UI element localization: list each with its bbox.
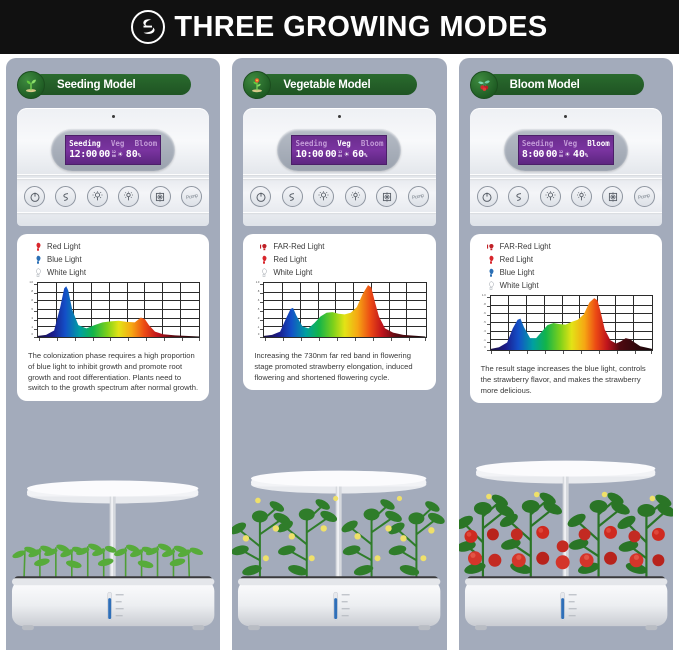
- legend-item: Blue Light: [487, 268, 653, 278]
- chart-y-axis: 1.0 .8 .6 .5 .3 .1 0: [26, 282, 37, 338]
- mode-badge-pill: Seeding Model: [31, 74, 191, 95]
- mode-badge-label: Bloom Model: [510, 79, 580, 91]
- lcd-seconds-value: 00: [546, 150, 557, 160]
- mode-badge-label: Seeding Model: [57, 79, 136, 91]
- spectrum-curve: [38, 283, 199, 337]
- spectrum-legend: FAR-Red Light Red Light White Light: [260, 242, 426, 278]
- pump-button-label: Pump: [412, 192, 425, 200]
- indicator-dot-icon: [112, 115, 115, 118]
- pump-icon[interactable]: Pump: [408, 186, 429, 207]
- spectrum-curve: [264, 283, 425, 337]
- legend-item: White Light: [34, 268, 200, 278]
- lcd-mode-bloom: Bloom: [587, 140, 610, 148]
- spectrum-mode-icon[interactable]: [602, 186, 623, 207]
- legend-item: FAR-Red Light: [487, 242, 653, 252]
- legend-item: Red Light: [260, 255, 426, 265]
- spectrum-card-seeding: Red Light Blue Light White Light 1.0 .8 …: [17, 234, 209, 401]
- lcd-timer-value: 10:00: [295, 150, 323, 160]
- mode-description: The colonization phase requires a high p…: [28, 351, 198, 394]
- controller-device-bloom: Seeding Veg Bloom 8:00 00 12 00 ☀ 40%: [470, 108, 662, 226]
- legend-label: White Light: [500, 282, 539, 290]
- bulb-icon: [34, 255, 42, 265]
- lcd-display[interactable]: Seeding Veg Bloom 12:00 00 12 00 ☀ 80%: [65, 135, 161, 165]
- legend-item: Red Light: [487, 255, 653, 265]
- power-icon[interactable]: [24, 186, 45, 207]
- lcd-mini-labels: 12 00: [559, 151, 563, 159]
- lcd-mini-labels: 12 00: [338, 151, 342, 159]
- lcd-mode-seeding: Seeding: [295, 140, 327, 148]
- spectrum-curve: [491, 296, 652, 350]
- spectrum-card-vegetable: FAR-Red Light Red Light White Light 1.0 …: [243, 234, 435, 390]
- lcd-mode-bloom: Bloom: [135, 140, 158, 148]
- lcd-timer-value: 8:00: [522, 150, 544, 160]
- mode-column-vegetable: Vegetable Model S: [232, 58, 446, 650]
- bulb-icon: [34, 242, 42, 252]
- spectrum-mode-icon[interactable]: [150, 186, 171, 207]
- indicator-dot-icon: [338, 115, 341, 118]
- sun-brightness-icon: ☀: [565, 151, 570, 159]
- berries-icon: [470, 71, 498, 99]
- mode-badge-label: Vegetable Model: [283, 79, 370, 91]
- spectrum-card-bloom: FAR-Red Light Red Light Blue Light White…: [470, 234, 662, 403]
- mode-description: Increasing the 730nm far red band in flo…: [254, 351, 424, 383]
- page-header: THREE GROWING MODES: [0, 0, 679, 54]
- sun-brightness-icon: ☀: [118, 151, 123, 159]
- lcd-mode-bloom: Bloom: [361, 140, 384, 148]
- lcd-seconds-value: 00: [325, 150, 336, 160]
- spectrum-chart-vegetable: 1.0 .8 .6 .5 .3 .1 0: [252, 282, 426, 338]
- circle-swoosh-logo-icon: [131, 10, 165, 44]
- chart-x-axis: [490, 351, 653, 359]
- lcd-mode-veg: Veg: [337, 140, 351, 148]
- legend-label: FAR-Red Light: [273, 243, 324, 251]
- lcd-timer-value: 12:00: [69, 150, 97, 160]
- controller-button-row: Pump: [24, 186, 202, 207]
- legend-label: Red Light: [273, 256, 306, 264]
- fruiting-stage-garden: [459, 450, 673, 650]
- lcd-seconds-value: 00: [99, 150, 110, 160]
- lcd-bezel: Seeding Veg Bloom 12:00 00 12 00 ☀ 80%: [51, 129, 175, 171]
- legend-item: White Light: [260, 268, 426, 278]
- controller-device-vegetable: Seeding Veg Bloom 10:00 00 12 00 ☀ 60%: [243, 108, 435, 226]
- legend-label: Red Light: [47, 243, 80, 251]
- spectrum-mode-icon[interactable]: [376, 186, 397, 207]
- seedling-stage-garden: [6, 450, 220, 650]
- lcd-display[interactable]: Seeding Veg Bloom 8:00 00 12 00 ☀ 40%: [518, 135, 614, 165]
- pump-button-label: Pump: [185, 192, 198, 200]
- chart-y-axis: 1.0 .8 .6 .5 .3 .1 0: [479, 295, 490, 351]
- cycle-mode-icon[interactable]: [55, 186, 76, 207]
- lcd-mode-seeding: Seeding: [522, 140, 554, 148]
- bulb-icon: [487, 255, 495, 265]
- chart-y-axis: 1.0 .8 .6 .5 .3 .1 0: [252, 282, 263, 338]
- legend-label: Red Light: [500, 256, 533, 264]
- light-dim-icon[interactable]: [118, 186, 139, 207]
- lcd-brightness-value: 40%: [573, 150, 588, 160]
- lcd-mini-labels: 12 00: [112, 151, 116, 159]
- bulb-icon: [260, 268, 268, 278]
- chart-plot-area: [490, 295, 653, 351]
- legend-item: Red Light: [34, 242, 200, 252]
- mode-badge-pill: Vegetable Model: [257, 74, 417, 95]
- light-bright-icon[interactable]: [313, 186, 334, 207]
- pump-icon[interactable]: Pump: [634, 186, 655, 207]
- power-icon[interactable]: [477, 186, 498, 207]
- legend-label: Blue Light: [500, 269, 535, 277]
- controller-device-seeding: Seeding Veg Bloom 12:00 00 12 00 ☀ 80%: [17, 108, 209, 226]
- legend-item: White Light: [487, 281, 653, 291]
- bulb-icon: [487, 268, 495, 278]
- cycle-mode-icon[interactable]: [282, 186, 303, 207]
- spectrum-chart-bloom: 1.0 .8 .6 .5 .3 .1 0: [479, 295, 653, 351]
- lcd-mode-veg: Veg: [111, 140, 125, 148]
- vegetative-stage-garden: [232, 450, 446, 650]
- legend-item: Blue Light: [34, 255, 200, 265]
- sprout-icon: [17, 71, 45, 99]
- pump-icon[interactable]: Pump: [181, 186, 202, 207]
- lcd-display[interactable]: Seeding Veg Bloom 10:00 00 12 00 ☀ 60%: [291, 135, 387, 165]
- controller-button-row: Pump: [477, 186, 655, 207]
- mode-column-seeding: Seeding Model Seeding Veg: [6, 58, 220, 650]
- chart-plot-area: [263, 282, 426, 338]
- chart-x-axis: [263, 338, 426, 346]
- bulb-icon: [487, 281, 495, 291]
- legend-label: White Light: [273, 269, 312, 277]
- bulb-icon: [487, 242, 495, 252]
- sun-brightness-icon: ☀: [344, 151, 349, 159]
- light-dim-icon[interactable]: [345, 186, 366, 207]
- chart-plot-area: [37, 282, 200, 338]
- spectrum-legend: FAR-Red Light Red Light Blue Light White…: [487, 242, 653, 291]
- legend-item: FAR-Red Light: [260, 242, 426, 252]
- lcd-brightness-value: 60%: [352, 150, 367, 160]
- light-dim-icon[interactable]: [571, 186, 592, 207]
- controller-button-row: Pump: [250, 186, 428, 207]
- chart-x-axis: [37, 338, 200, 346]
- bulb-icon: [260, 255, 268, 265]
- mode-badge-pill: Bloom Model: [484, 74, 644, 95]
- cycle-mode-icon[interactable]: [508, 186, 529, 207]
- lcd-mode-veg: Veg: [564, 140, 578, 148]
- lcd-bezel: Seeding Veg Bloom 10:00 00 12 00 ☀ 60%: [277, 129, 401, 171]
- growing-modes-columns: Seeding Model Seeding Veg: [0, 54, 679, 650]
- page-title: THREE GROWING MODES: [174, 11, 547, 44]
- indicator-dot-icon: [564, 115, 567, 118]
- bulb-icon: [34, 268, 42, 278]
- light-bright-icon[interactable]: [87, 186, 108, 207]
- power-icon[interactable]: [250, 186, 271, 207]
- lcd-brightness-value: 80%: [126, 150, 141, 160]
- mode-description: The result stage increases the blue ligh…: [481, 364, 651, 396]
- lcd-bezel: Seeding Veg Bloom 8:00 00 12 00 ☀ 40%: [504, 129, 628, 171]
- legend-label: Blue Light: [47, 256, 82, 264]
- bulb-icon: [260, 242, 268, 252]
- lcd-mode-seeding: Seeding: [69, 140, 101, 148]
- spectrum-chart-seeding: 1.0 .8 .6 .5 .3 .1 0: [26, 282, 200, 338]
- pump-button-label: Pump: [638, 192, 651, 200]
- spectrum-legend: Red Light Blue Light White Light: [34, 242, 200, 278]
- light-bright-icon[interactable]: [540, 186, 561, 207]
- legend-label: FAR-Red Light: [500, 243, 551, 251]
- mode-column-bloom: Bloom Model: [459, 58, 673, 650]
- legend-label: White Light: [47, 269, 86, 277]
